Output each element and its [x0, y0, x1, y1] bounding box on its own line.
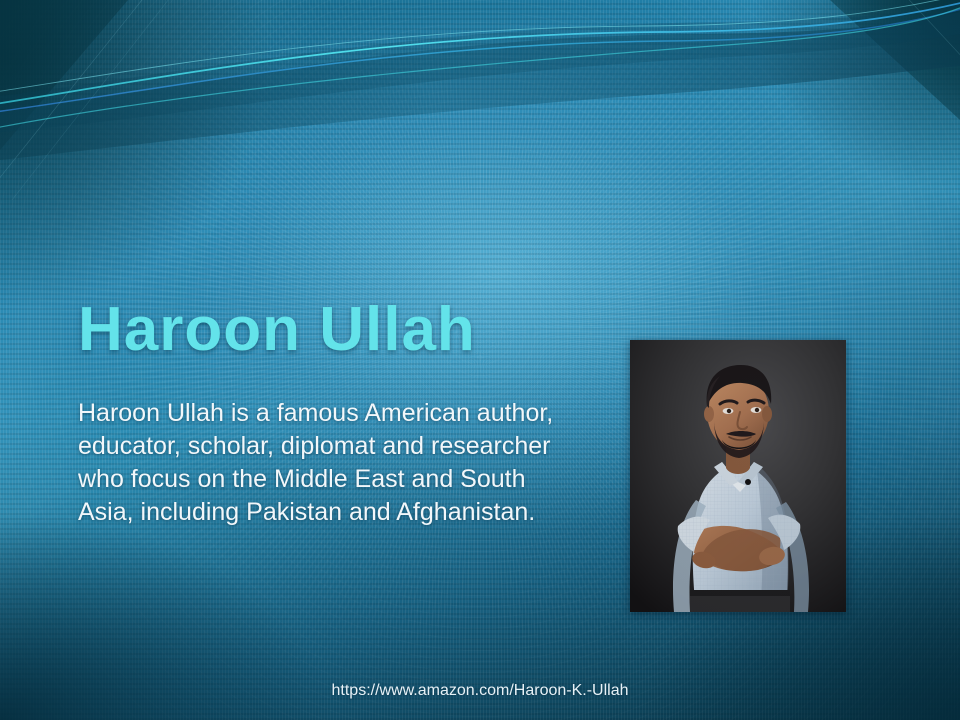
slide-body-text: Haroon Ullah is a famous American author…: [78, 397, 558, 529]
source-url-caption: https://www.amazon.com/Haroon-K.-Ullah: [0, 682, 960, 700]
slide-title: Haroon Ullah: [78, 294, 476, 365]
portrait-photo: [630, 340, 846, 612]
presentation-slide: Haroon Ullah Haroon Ullah is a famous Am…: [0, 0, 960, 720]
